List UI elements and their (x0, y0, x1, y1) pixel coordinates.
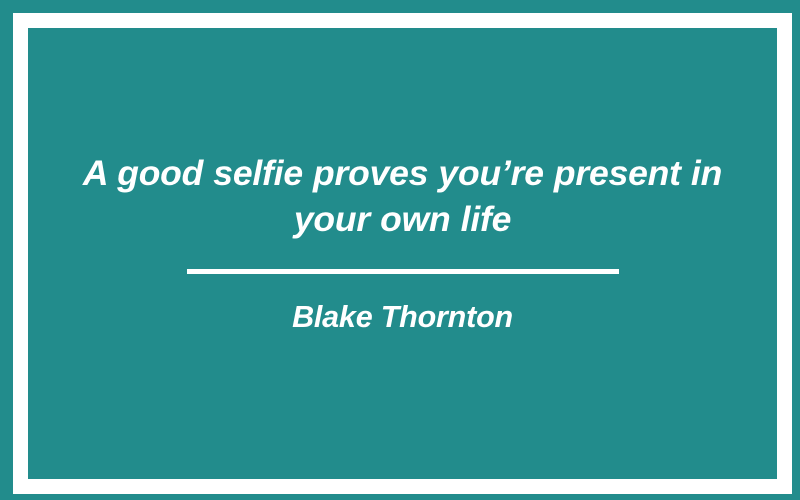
quote-card: A good selfie proves you’re present in y… (0, 0, 800, 500)
quote-text: A good selfie proves you’re present in y… (73, 150, 733, 242)
divider-rule (187, 269, 619, 274)
quote-content-stack: A good selfie proves you’re present in y… (28, 28, 777, 479)
author-name: Blake Thornton (292, 299, 513, 335)
